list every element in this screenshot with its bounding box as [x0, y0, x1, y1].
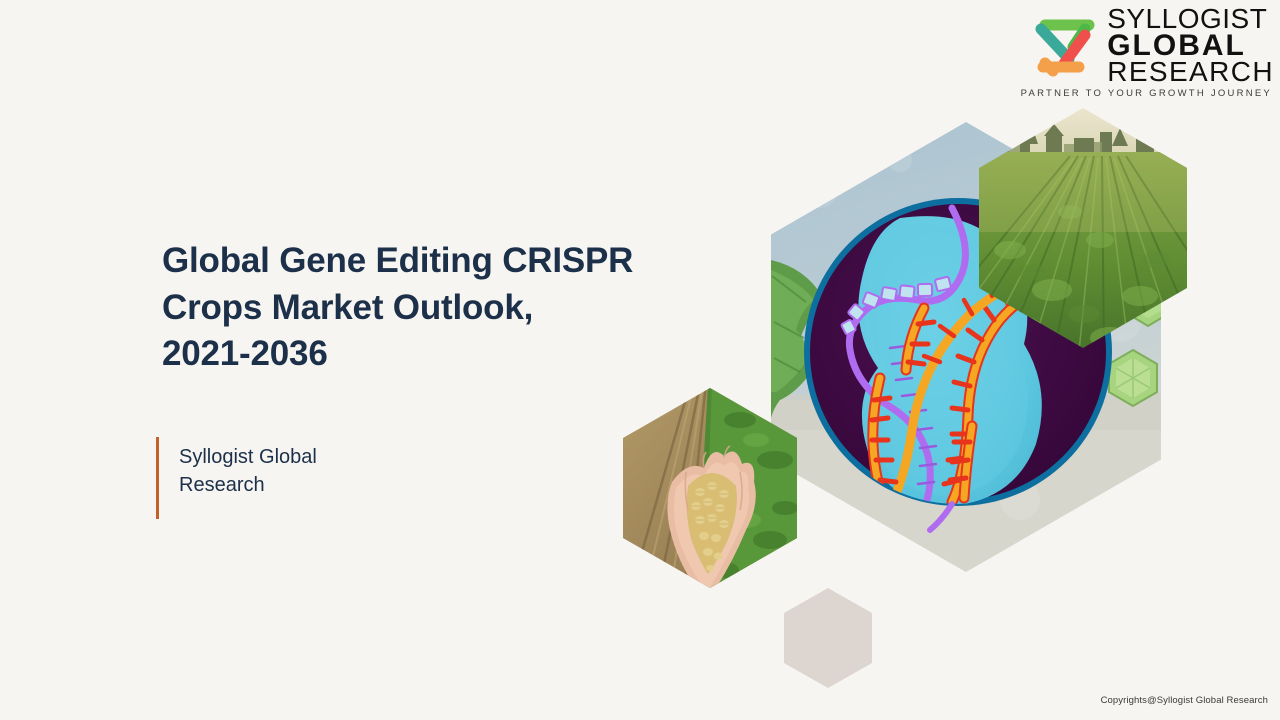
logo-line-syllogist: SYLLOGIST [1107, 6, 1274, 32]
decorative-plain-hexagon [784, 588, 872, 688]
logo-tagline: PARTNER TO YOUR GROWTH JOURNEY [1021, 88, 1272, 99]
logo-line-global: GLOBAL [1107, 32, 1274, 60]
subtitle-text: Syllogist Global Research [179, 437, 317, 500]
logo-line-research: RESEARCH [1107, 59, 1274, 85]
title-block: Global Gene Editing CRISPR Crops Market … [162, 238, 742, 378]
syllogist-logo-mark [1029, 13, 1101, 79]
cover-artwork [600, 100, 1240, 690]
brand-logo[interactable]: SYLLOGIST GLOBAL RESEARCH PARTNER TO YOU… [1021, 6, 1274, 99]
subtitle-accent-bar: Syllogist Global Research [156, 437, 317, 519]
logo-wordmark: SYLLOGIST GLOBAL RESEARCH [1107, 6, 1274, 85]
slide-canvas: SYLLOGIST GLOBAL RESEARCH PARTNER TO YOU… [0, 0, 1280, 720]
copyright-notice: Copyrights@Syllogist Global Research [1101, 695, 1268, 706]
logo-row: SYLLOGIST GLOBAL RESEARCH [1029, 6, 1274, 85]
page-title: Global Gene Editing CRISPR Crops Market … [162, 238, 742, 378]
